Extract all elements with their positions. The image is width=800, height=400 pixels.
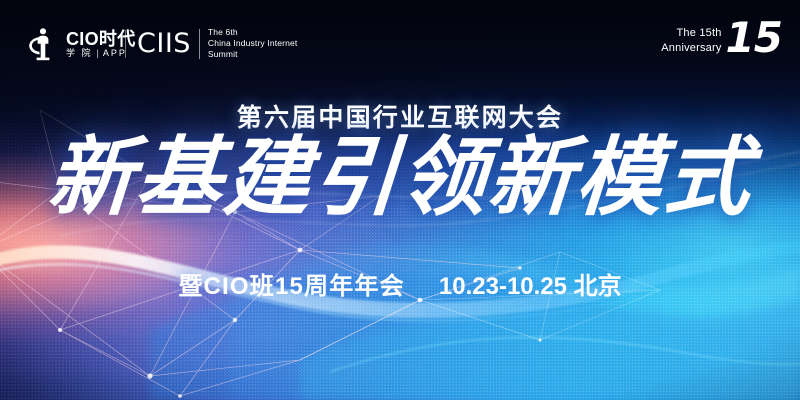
banner-header: CIO时代 学 院 | APP CIIS The 6th China Indus… — [0, 0, 800, 86]
conference-banner: CIO时代 学 院 | APP CIIS The 6th China Indus… — [0, 0, 800, 400]
cio-sub-right: APP — [103, 49, 127, 58]
sub-event-date: 10.23-10.25 北京 — [439, 266, 622, 301]
cio-logo[interactable]: CIO时代 学 院 | APP — [26, 26, 136, 62]
ciis-tagline-line3: Summit — [208, 49, 297, 60]
cio-sub-left: 学 院 — [66, 49, 93, 58]
anniversary-number: 15 — [726, 21, 782, 55]
sub-event-name: 暨CIO班15周年年会 — [178, 266, 405, 301]
event-subline: 暨CIO班15周年年会 10.23-10.25 北京 — [0, 266, 800, 301]
cio-person-mark-icon — [26, 26, 60, 62]
ciis-tagline-line2: China Industry Internet — [208, 38, 297, 49]
anniversary-text: The 15th Anniversary — [661, 26, 721, 56]
anniversary-line2: Anniversary — [661, 41, 721, 56]
cio-sub-separator: | — [97, 49, 99, 58]
anniversary-line1: The 15th — [661, 26, 721, 41]
ciis-tagline: The 6th China Industry Internet Summit — [208, 27, 297, 61]
ciis-logo[interactable]: CIIS The 6th China Industry Internet Sum… — [137, 27, 297, 61]
anniversary-badge: The 15th Anniversary 15 — [661, 24, 782, 58]
logo-divider — [125, 30, 126, 58]
ciis-divider — [199, 29, 200, 59]
main-title: 新基建引领新模式 — [0, 132, 800, 223]
ciis-wordmark: CIIS — [137, 30, 191, 57]
ciis-tagline-line1: The 6th — [208, 27, 297, 38]
